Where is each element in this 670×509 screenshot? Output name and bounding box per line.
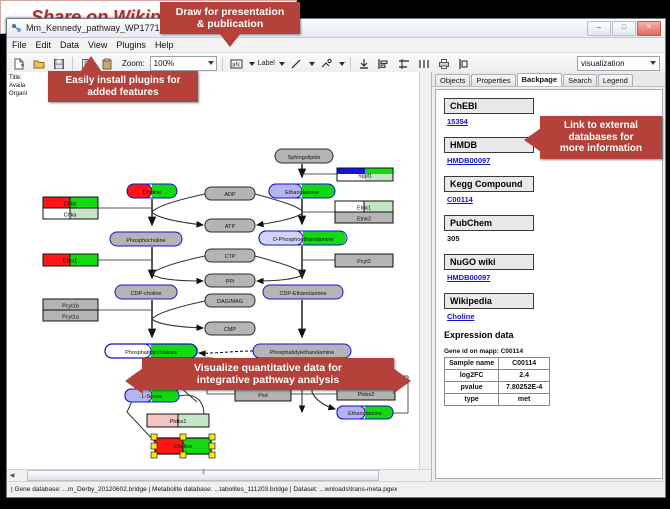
menu-item-help[interactable]: Help xyxy=(155,40,174,50)
zoom-value: 100% xyxy=(154,59,174,68)
section-heading-kegg: Kegg Compound xyxy=(444,176,534,192)
visualization-value: visualization xyxy=(581,59,625,68)
menu-item-edit[interactable]: Edit xyxy=(36,40,52,50)
title-bar: Mm_Kennedy_pathway_WP1771_45176.gpml – □… xyxy=(7,19,665,38)
export-icon[interactable] xyxy=(456,55,473,72)
callout-draw-line2: & publication xyxy=(197,18,264,30)
shape-tool-icon[interactable] xyxy=(318,55,335,72)
chevron-down-icon xyxy=(650,61,656,65)
svg-text:Ethanolamine: Ethanolamine xyxy=(285,190,319,196)
svg-text:CDP-choline: CDP-choline xyxy=(131,291,162,297)
svg-text:ATP: ATP xyxy=(225,224,236,230)
callout-draw-line1: Draw for presentation xyxy=(176,6,285,18)
save-file-icon[interactable] xyxy=(50,55,67,72)
node-chkb[interactable]: Chkb xyxy=(43,197,98,208)
link-kegg[interactable]: C00114 xyxy=(447,195,662,204)
node-phosphocholine[interactable]: Phosphocholine xyxy=(110,232,182,246)
cell-value: C00114 xyxy=(499,358,550,370)
chevron-down-icon[interactable] xyxy=(339,62,345,66)
link-wikipedia[interactable]: Choline xyxy=(447,312,662,321)
window-controls: – □ ✕ xyxy=(587,21,661,36)
menu-item-view[interactable]: View xyxy=(88,40,107,50)
callout-arrow-down-icon xyxy=(219,33,241,47)
section-heading-nugo: NuGO wiki xyxy=(444,254,534,270)
node-sphingolipids[interactable]: Sphingolipids xyxy=(275,149,333,163)
callout-link-line2: databases for xyxy=(568,132,633,143)
section-heading-wikipedia: Wikipedia xyxy=(444,293,534,309)
node-atp[interactable]: ATP xyxy=(205,219,255,232)
cell-label: log2FC xyxy=(445,370,499,382)
pathway-diagram[interactable]: Sphingolipids Ethanolamine xyxy=(7,72,431,472)
svg-text:Ethanolamine: Ethanolamine xyxy=(348,411,382,417)
callout-link-line3: more information xyxy=(560,143,642,154)
svg-text:Pcyt2: Pcyt2 xyxy=(357,259,371,265)
align-left-icon[interactable] xyxy=(376,55,393,72)
svg-text:Phosphocholine: Phosphocholine xyxy=(126,238,165,244)
node-pcyt1b[interactable]: Pcyt1b xyxy=(43,299,98,310)
svg-text:Etnk2: Etnk2 xyxy=(357,217,371,223)
svg-text:Phosphatidylethanolamine: Phosphatidylethanolamine xyxy=(270,350,335,356)
menu-item-data[interactable]: Data xyxy=(60,40,79,50)
screenshot-root: Mm_Kennedy_pathway_WP1771_45176.gpml – □… xyxy=(0,0,670,509)
callout-arrow-left-icon xyxy=(524,128,541,152)
svg-text:CDP-Ethanolamine: CDP-Ethanolamine xyxy=(279,291,326,297)
chevron-down-icon[interactable] xyxy=(249,62,255,66)
svg-text:O-Phosphoethanolamine: O-Phosphoethanolamine xyxy=(273,237,334,243)
canvas-vertical-scrollbar[interactable] xyxy=(419,72,431,470)
datanode-icon[interactable]: aN xyxy=(228,55,245,72)
svg-text:L-Serine: L-Serine xyxy=(142,394,163,400)
tab-backpage[interactable]: Backpage xyxy=(517,73,562,86)
node-phosphatidylcholines[interactable]: Phosphatidylcholines xyxy=(105,344,198,358)
table-row: log2FC 2.4 xyxy=(445,370,550,382)
callout-external-links: Link to external databases for more info… xyxy=(540,116,662,159)
callout-arrow-right-icon xyxy=(393,368,411,394)
callout-plugins: Easily install plugins for added feature… xyxy=(48,71,198,102)
svg-text:CMP: CMP xyxy=(224,327,237,333)
section-heading-hmdb: HMDB xyxy=(444,137,534,153)
svg-text:Choline: Choline xyxy=(143,190,162,196)
zoom-label: Zoom: xyxy=(122,59,145,68)
align-bottom-icon[interactable] xyxy=(356,55,373,72)
svg-text:PPi: PPi xyxy=(226,279,235,285)
pathvisio-app-icon xyxy=(11,23,22,34)
status-bar: | Gene database: ...m_Derby_20120602.bri… xyxy=(7,481,665,497)
tab-legend[interactable]: Legend xyxy=(598,74,633,86)
value-pubchem: 305 xyxy=(447,234,662,243)
cell-value: 2.4 xyxy=(499,370,550,382)
node-ptdss1[interactable]: Ptdss1 xyxy=(147,414,209,427)
node-ethanolamine-bottom[interactable]: Ethanolamine xyxy=(337,406,394,419)
expression-table: Sample name C00114 log2FC 2.4 pvalue 7.8… xyxy=(444,357,550,406)
node-phosphatidylethanolamine[interactable]: Phosphatidylethanolamine xyxy=(253,344,351,358)
print-icon[interactable] xyxy=(436,55,453,72)
menu-bar: File Edit Data View Plugins Help xyxy=(7,38,665,53)
distribute-vertical-icon[interactable] xyxy=(396,55,413,72)
chevron-down-icon[interactable] xyxy=(279,62,285,66)
callout-visualize-line1: Visualize quantitative data for xyxy=(194,362,342,374)
maximize-button[interactable]: □ xyxy=(612,21,636,36)
svg-text:Phosphatidylcholines: Phosphatidylcholines xyxy=(125,350,177,356)
toolbar-separator xyxy=(72,57,73,71)
callout-visualize-text: Visualize quantitative data for integrat… xyxy=(142,358,394,390)
tab-objects[interactable]: Objects xyxy=(435,74,470,86)
chevron-down-icon[interactable] xyxy=(309,62,315,66)
callout-visualize: Visualize quantitative data for integrat… xyxy=(142,358,394,390)
svg-text:DAG/MAG: DAG/MAG xyxy=(217,299,243,305)
open-file-icon[interactable] xyxy=(30,55,47,72)
canvas-horizontal-scrollbar[interactable]: ◀ xyxy=(7,469,431,481)
node-o-phosphoethanolamine[interactable]: O-Phosphoethanolamine xyxy=(259,231,347,245)
svg-text:Chka: Chka xyxy=(64,213,78,219)
node-choline-selected[interactable]: Choline xyxy=(151,434,215,458)
scroll-left-arrow[interactable]: ◀ xyxy=(7,470,17,481)
callout-arrow-up-icon xyxy=(80,56,102,72)
pathway-canvas[interactable]: Title: Availa Organi xyxy=(7,72,432,481)
label-tool-label[interactable]: Label xyxy=(258,60,275,67)
svg-text:Pcyt1a: Pcyt1a xyxy=(62,315,80,321)
cell-value: 7.80252E-4 xyxy=(499,382,550,394)
callout-arrow-left-icon xyxy=(125,368,143,394)
svg-text:Ptdss1: Ptdss1 xyxy=(170,419,187,425)
callout-link-line1: Link to external xyxy=(564,120,638,131)
visualization-combo[interactable]: visualization xyxy=(577,56,660,71)
window-title: Mm_Kennedy_pathway_WP1771_45176.gpml xyxy=(26,23,587,33)
menu-item-plugins[interactable]: Plugins xyxy=(116,40,146,50)
node-cmp[interactable]: CMP xyxy=(205,322,255,335)
svg-text:Ptdss2: Ptdss2 xyxy=(358,392,375,398)
gene-id-line: Gene id on mapp: C00114 xyxy=(444,348,662,355)
svg-text:aN: aN xyxy=(232,62,240,68)
node-adp[interactable]: ADP xyxy=(205,187,255,200)
node-pcyt2[interactable]: Pcyt2 xyxy=(335,254,393,267)
callout-link-text: Link to external databases for more info… xyxy=(540,116,662,159)
callout-draw: Draw for presentation & publication xyxy=(160,2,300,34)
expression-data-title: Expression data xyxy=(444,330,662,340)
tab-properties[interactable]: Properties xyxy=(471,74,515,86)
svg-text:Etnk1: Etnk1 xyxy=(357,206,371,212)
node-cdp-ethanolamine[interactable]: CDP-Ethanolamine xyxy=(263,285,343,299)
svg-text:ADP: ADP xyxy=(224,192,236,198)
node-etnk1[interactable]: Etnk1 xyxy=(335,201,393,212)
table-row: pvalue 7.80252E-4 xyxy=(445,382,550,394)
svg-text:Sphingolipids: Sphingolipids xyxy=(288,155,321,161)
svg-text:Chkb: Chkb xyxy=(64,202,77,208)
zoom-combo[interactable]: 100% xyxy=(150,56,217,71)
node-dagmag[interactable]: DAG/MAG xyxy=(205,294,255,307)
new-file-icon[interactable] xyxy=(10,55,27,72)
svg-text:CTP: CTP xyxy=(225,254,236,260)
node-choline-top[interactable]: Choline xyxy=(127,184,177,198)
menu-item-file[interactable]: File xyxy=(12,40,27,50)
cell-label: pvalue xyxy=(445,382,499,394)
node-ctp[interactable]: CTP xyxy=(205,249,255,262)
toolbar-separator xyxy=(350,57,351,71)
table-row: Sample name C00114 xyxy=(445,358,550,370)
svg-text:Pcyt1b: Pcyt1b xyxy=(62,304,79,310)
tab-search[interactable]: Search xyxy=(563,74,597,86)
cell-value: met xyxy=(499,394,550,406)
minimize-button[interactable]: – xyxy=(587,21,611,36)
svg-text:Chpt1: Chpt1 xyxy=(63,259,78,265)
svg-text:Sgpl1: Sgpl1 xyxy=(358,174,372,180)
status-text: | Gene database: ...m_Derby_20120602.bri… xyxy=(11,486,397,493)
node-pcyt1a[interactable]: Pcyt1a xyxy=(43,310,98,321)
section-heading-pubchem: PubChem xyxy=(444,215,534,231)
callout-plugins-line1: Easily install plugins for xyxy=(65,75,180,86)
close-button[interactable]: ✕ xyxy=(637,21,661,36)
callout-plugins-line2: added features xyxy=(87,87,158,98)
svg-text:Psd: Psd xyxy=(258,393,267,399)
node-ppi[interactable]: PPi xyxy=(205,274,255,287)
table-row: type met xyxy=(445,394,550,406)
cell-label: Sample name xyxy=(445,358,499,370)
chevron-down-icon xyxy=(208,61,214,65)
line-tool-icon[interactable] xyxy=(288,55,305,72)
cell-label: type xyxy=(445,394,499,406)
callout-plugins-text: Easily install plugins for added feature… xyxy=(48,71,198,102)
node-etnk2[interactable]: Etnk2 xyxy=(335,212,393,223)
scroll-thumb[interactable] xyxy=(27,470,379,481)
distribute-horizontal-icon[interactable] xyxy=(416,55,433,72)
toolbar-separator xyxy=(222,57,223,71)
node-chpt1[interactable]: Chpt1 xyxy=(43,254,98,266)
link-nugo[interactable]: HMDB00097 xyxy=(447,273,662,282)
side-panel-tabs: Objects Properties Backpage Search Legen… xyxy=(432,72,665,87)
node-chka[interactable]: Chka xyxy=(43,208,98,219)
node-ethanolamine-top[interactable]: Ethanolamine xyxy=(269,184,335,198)
node-cdp-choline[interactable]: CDP-choline xyxy=(115,285,177,299)
section-heading-chebi: ChEBI xyxy=(444,98,534,114)
svg-text:Choline: Choline xyxy=(174,444,193,450)
node-sgpl1[interactable]: Sgpl1 xyxy=(337,168,393,181)
callout-draw-text: Draw for presentation & publication xyxy=(160,2,300,34)
callout-visualize-line2: integrative pathway analysis xyxy=(197,374,339,386)
